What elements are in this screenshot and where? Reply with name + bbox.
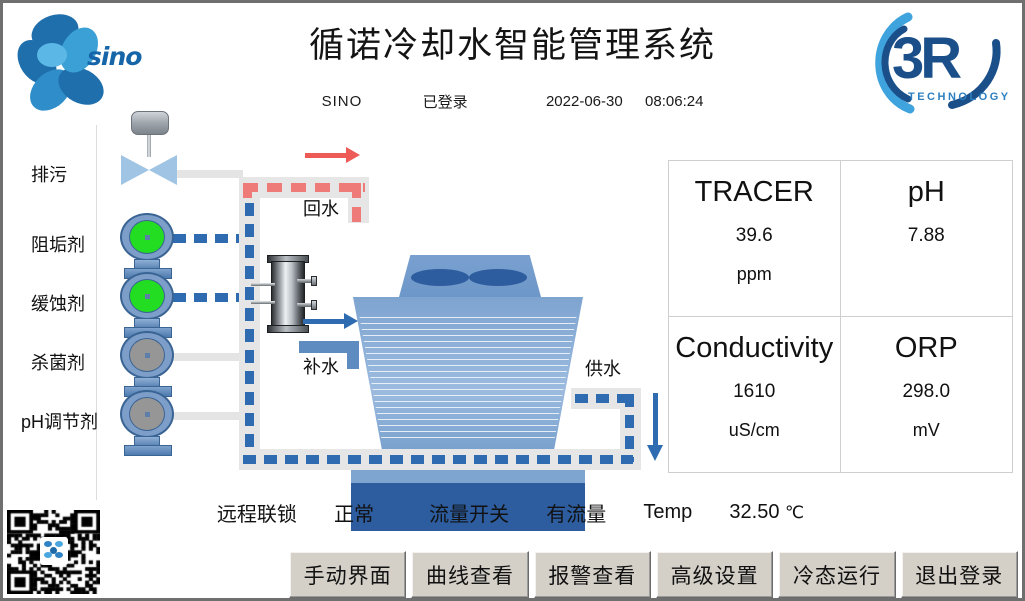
return-pipe-right bbox=[352, 183, 361, 223]
hmi-screen: sino 循诺冷却水智能管理系统 SINO 已登录 2022-06-30 08:… bbox=[0, 0, 1025, 601]
readout-value: 1610 bbox=[733, 381, 775, 403]
pipe-antiscalant-active bbox=[173, 234, 247, 243]
process-diagram: 排污 阻垢剂 缓蚀剂 杀菌剂 pH调节剂 bbox=[3, 125, 658, 493]
pipe-inhibitor-active bbox=[173, 293, 247, 302]
trend-view-button[interactable]: 曲线查看 bbox=[411, 551, 528, 598]
temp-label: Temp bbox=[643, 501, 692, 524]
readout-unit: mV bbox=[913, 420, 940, 441]
login-status: 已登录 bbox=[423, 91, 468, 112]
readout-unit: ppm bbox=[737, 264, 772, 285]
pump-inhibitor[interactable] bbox=[120, 272, 176, 338]
readout-name: Conductivity bbox=[675, 333, 833, 363]
readout-value: 298.0 bbox=[902, 381, 950, 403]
readout-name: TRACER bbox=[695, 177, 814, 207]
return-flow-arrow-icon bbox=[305, 151, 360, 159]
qr-center-logo bbox=[40, 537, 68, 565]
3r-logo-subtext: TECHNOLOGY bbox=[908, 91, 1011, 103]
readout-value: 39.6 bbox=[736, 225, 773, 247]
measurements-panel: TRACER 39.6 ppm pH 7.88 Conductivity 161… bbox=[668, 160, 1013, 473]
return-pipe-top bbox=[243, 183, 365, 192]
button-bar: 手动界面 曲线查看 报警查看 高级设置 冷态运行 退出登录 bbox=[289, 551, 1018, 598]
readout-tracer[interactable]: TRACER 39.6 ppm bbox=[669, 161, 841, 317]
pipe-biocide bbox=[173, 353, 245, 361]
status-row: 远程联锁 正常 流量开关 有流量 Temp 32.50 ℃ bbox=[3, 498, 1018, 527]
fan-blade-icon bbox=[469, 269, 527, 286]
label-biocide: 杀菌剂 bbox=[31, 349, 85, 375]
temp-value: 32.50 bbox=[729, 501, 779, 524]
interlock-value: 正常 bbox=[334, 498, 374, 527]
cold-start-button[interactable]: 冷态运行 bbox=[778, 551, 895, 598]
user-name: SINO bbox=[322, 93, 363, 110]
valve-actuator bbox=[131, 111, 169, 135]
tower-fan-housing bbox=[399, 255, 541, 297]
label-supply-water: 供水 bbox=[585, 355, 621, 381]
readout-conductivity[interactable]: Conductivity 1610 uS/cm bbox=[669, 317, 841, 473]
logout-button[interactable]: 退出登录 bbox=[901, 551, 1018, 598]
fan-blade-icon bbox=[411, 269, 469, 286]
supply-pipe-bottom bbox=[243, 455, 633, 464]
readout-value: 7.88 bbox=[908, 225, 945, 247]
pump-ph-adjuster[interactable] bbox=[120, 390, 176, 456]
readout-ph[interactable]: pH 7.88 bbox=[841, 161, 1013, 317]
supply-riser-pipe bbox=[245, 203, 254, 465]
label-return-water: 回水 bbox=[303, 195, 339, 221]
current-date: 2022-06-30 bbox=[546, 93, 623, 110]
tower-fill-louvers bbox=[355, 317, 581, 443]
pipe-ph bbox=[173, 412, 245, 420]
qr-code[interactable] bbox=[7, 510, 100, 594]
label-antiscalant: 阻垢剂 bbox=[31, 231, 85, 257]
readout-orp[interactable]: ORP 298.0 mV bbox=[841, 317, 1013, 473]
current-time: 08:06:24 bbox=[645, 93, 703, 110]
readout-name: ORP bbox=[895, 333, 958, 363]
label-blowdown: 排污 bbox=[31, 161, 67, 187]
readout-name: pH bbox=[908, 177, 945, 207]
pump-antiscalant[interactable] bbox=[120, 213, 176, 279]
flow-switch-value: 有流量 bbox=[546, 498, 606, 527]
supply-flow-arrow-icon bbox=[651, 393, 660, 461]
flow-switch-label: 流量开关 bbox=[429, 498, 509, 527]
manual-interface-button[interactable]: 手动界面 bbox=[289, 551, 406, 598]
label-ph-adjuster: pH调节剂 bbox=[21, 408, 98, 434]
label-inhibitor: 缓蚀剂 bbox=[31, 290, 85, 316]
alarm-view-button[interactable]: 报警查看 bbox=[534, 551, 651, 598]
header: sino 循诺冷却水智能管理系统 SINO 已登录 2022-06-30 08:… bbox=[3, 3, 1022, 125]
interlock-label: 远程联锁 bbox=[217, 498, 297, 527]
3r-logo-text: 3R bbox=[892, 25, 958, 92]
supply-pipe-right bbox=[625, 394, 634, 462]
readout-unit: uS/cm bbox=[729, 420, 780, 441]
advanced-settings-button[interactable]: 高级设置 bbox=[656, 551, 773, 598]
temp-unit: ℃ bbox=[785, 503, 804, 523]
pump-biocide[interactable] bbox=[120, 331, 176, 397]
pipe-blowdown bbox=[173, 170, 243, 178]
3r-technology-logo: 3R TECHNOLOGY bbox=[864, 9, 1014, 119]
